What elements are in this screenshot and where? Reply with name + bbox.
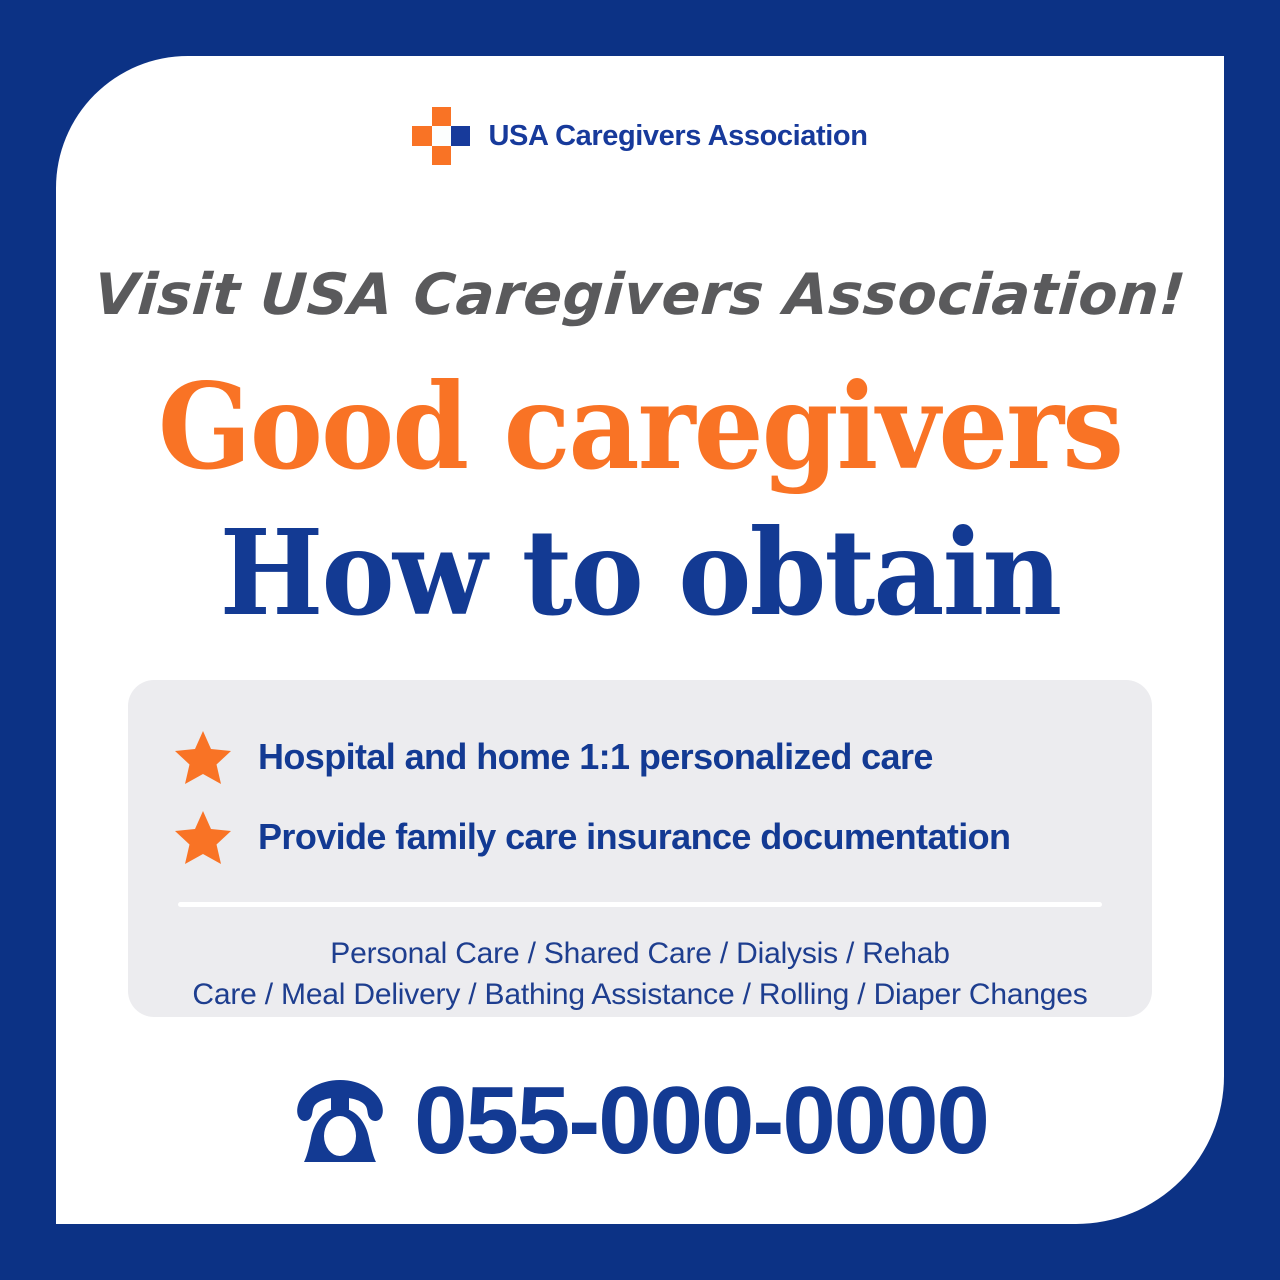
list-item: Provide family care insurance documentat… [174,800,1106,874]
star-icon [174,728,232,786]
list-item-label: Provide family care insurance documentat… [258,816,1010,858]
script-tagline: Visit USA Caregivers Association! [56,262,1224,328]
white-content-card: USA Caregivers Association Visit USA Car… [56,56,1224,1224]
telephone-icon [292,1078,388,1164]
panel-divider [178,902,1102,907]
contact-phone[interactable]: 055-000-0000 [56,1066,1224,1176]
services-line-2: Care / Meal Delivery / Bathing Assistanc… [174,974,1106,1015]
features-panel: Hospital and home 1:1 personalized care … [128,680,1152,1017]
services-line-1: Personal Care / Shared Care / Dialysis /… [174,933,1106,974]
poster-background: USA Caregivers Association Visit USA Car… [0,0,1280,1280]
brand-logo: USA Caregivers Association [56,107,1224,165]
list-item-label: Hospital and home 1:1 personalized care [258,736,933,778]
services-list: Personal Care / Shared Care / Dialysis /… [174,933,1106,1016]
headline-secondary: How to obtain [97,514,1183,632]
list-item: Hospital and home 1:1 personalized care [174,720,1106,794]
logo-wordmark: USA Caregivers Association [488,120,867,153]
headline-primary: Good caregivers [97,368,1183,486]
phone-number: 055-000-0000 [414,1066,988,1176]
medical-cross-logo-icon [412,107,470,165]
star-icon [174,808,232,866]
